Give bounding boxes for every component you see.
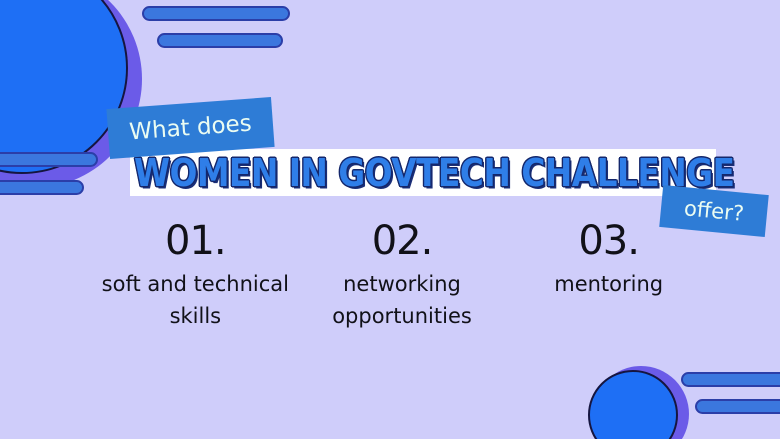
benefit-number: 01. [92,218,299,264]
benefit-number: 03. [505,218,712,264]
benefit-column-2: 02. networking opportunities [299,218,506,332]
benefit-columns: 01. soft and technical skills 02. networ… [92,218,712,332]
decor-bar-right-2 [695,399,780,414]
benefit-column-3: 03. mentoring [505,218,712,300]
decor-circle-bottom-right [588,362,692,439]
poster-canvas: WOMEN IN GOVTECH CHALLENGE What does off… [0,0,780,439]
page-title: WOMEN IN GOVTECH CHALLENGE [134,151,633,195]
decor-bar-top-2 [157,33,283,48]
decor-bar-left-1 [0,152,98,167]
benefit-column-1: 01. soft and technical skills [92,218,299,332]
benefit-text: mentoring [505,268,712,300]
decor-bar-left-2 [0,180,84,195]
benefit-text: networking opportunities [299,268,506,332]
decor-bar-top-1 [142,6,290,21]
benefit-number: 02. [299,218,506,264]
benefit-text: soft and technical skills [92,268,299,332]
decor-bar-right-1 [681,372,780,387]
